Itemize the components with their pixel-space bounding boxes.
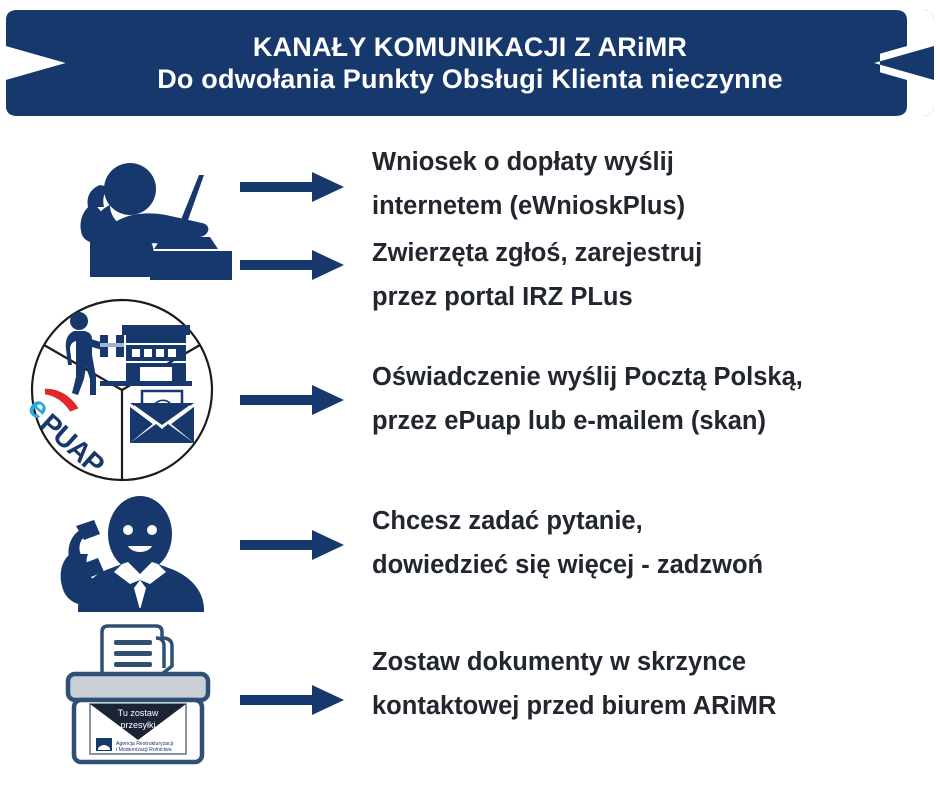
arrow-right-icon — [240, 383, 345, 417]
channel-text-line: przez ePuap lub e-mailem (skan) — [372, 399, 932, 443]
drop-box-icon: Tu zostaw przesyłki Agencja Restrukturyz… — [60, 618, 220, 768]
channel-text-line: internetem (eWnioskPlus) — [372, 184, 932, 228]
channel-text-dropbox: Zostaw dokumenty w skrzynce kontaktowej … — [372, 640, 932, 728]
channel-text-line: Chcesz zadać pytanie, — [372, 499, 932, 543]
channel-text-internet: Wniosek o dopłaty wyślij internetem (eWn… — [372, 140, 932, 228]
channel-text-post-epuap-email: Oświadczenie wyślij Pocztą Polską, przez… — [372, 355, 932, 443]
channel-text-line: kontaktowej przed biurem ARiMR — [372, 684, 932, 728]
call-center-person-icon — [58, 492, 218, 612]
arrow-right-icon — [240, 248, 345, 282]
dropbox-sign-line2: przesyłki — [120, 720, 155, 730]
channel-text-line: dowiedzieć się więcej - zadzwoń — [372, 543, 932, 587]
arrow-right-icon — [240, 170, 345, 204]
channel-row-phone: Chcesz zadać pytanie, dowiedzieć się wię… — [0, 490, 940, 620]
dropbox-sign-line1: Tu zostaw — [118, 708, 159, 718]
channel-text-phone: Chcesz zadać pytanie, dowiedzieć się wię… — [372, 499, 932, 587]
channel-text-line: Wniosek o dopłaty wyślij — [372, 140, 932, 184]
arrow-right-icon — [240, 683, 345, 717]
channel-row-post-epuap-email: @ e PUAP Oświadc — [0, 293, 940, 488]
dropbox-logo-line2: i Modernizacji Rolnictwa — [116, 747, 172, 753]
channel-text-line: Zostaw dokumenty w skrzynce — [372, 640, 932, 684]
pie-channels-icon: @ e PUAP — [22, 293, 222, 488]
channel-row-dropbox: Tu zostaw przesyłki Agencja Restrukturyz… — [0, 618, 940, 783]
channel-text-line: Oświadczenie wyślij Pocztą Polską, — [372, 355, 932, 399]
channel-text-line: Zwierzęta zgłoś, zarejestruj — [372, 231, 932, 275]
arrow-right-icon — [240, 528, 345, 562]
header-banner: KANAŁY KOMUNIKACJI Z ARiMR Do odwołania … — [0, 8, 940, 118]
ribbon-shape — [0, 8, 940, 118]
